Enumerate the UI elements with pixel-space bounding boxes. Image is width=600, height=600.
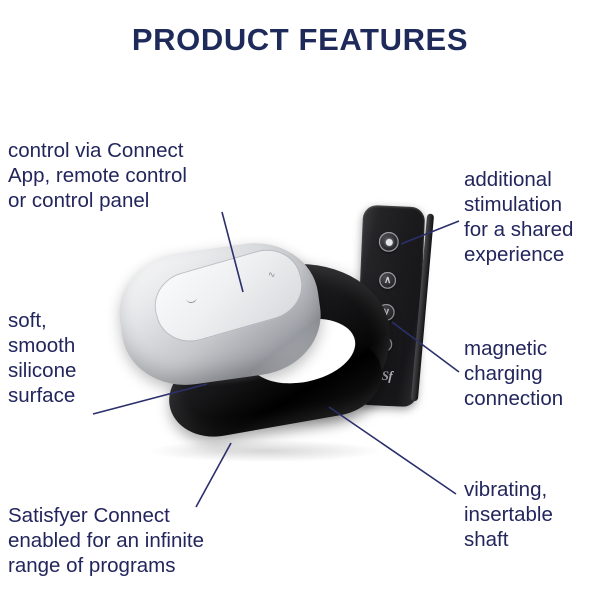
wave-icon: ∿ bbox=[267, 269, 282, 280]
feature-label-additional: additional stimulation for a shared expe… bbox=[464, 167, 600, 267]
feature-label-vibrating: vibrating, insertable shaft bbox=[464, 477, 600, 552]
product-features-infographic: PRODUCT FEATURES ∧ ∨ Sf ∿ bbox=[0, 0, 600, 600]
control-panel bbox=[147, 241, 310, 350]
main-device: ∿ bbox=[120, 240, 400, 470]
feature-label-connect: Satisfyer Connect enabled for an infinit… bbox=[8, 503, 258, 578]
feature-label-silicone: soft, smooth silicone surface bbox=[8, 308, 148, 408]
feature-label-magnetic: magnetic charging connection bbox=[464, 336, 600, 411]
feature-label-control: control via Connect App, remote control … bbox=[8, 138, 238, 213]
